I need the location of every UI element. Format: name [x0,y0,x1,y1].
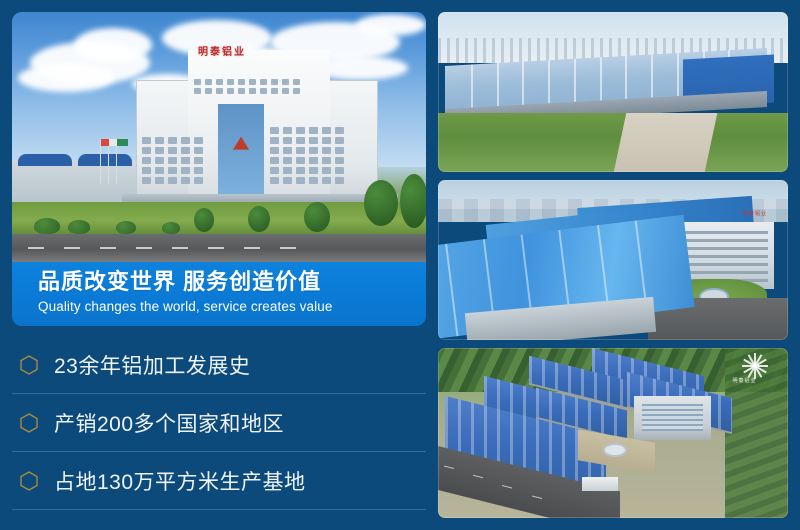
left-column: 明泰铝业 [12,12,426,518]
hexagon-icon [18,354,40,376]
yard-pavement [614,113,718,172]
flag-pole [116,140,117,184]
sun-burst-icon [741,353,767,379]
glass-facade [642,404,704,431]
window-grid [194,79,300,94]
side-workshop [12,160,140,208]
main-office-building [634,396,711,440]
building-sign-text: 明泰铝业 [743,210,767,217]
hexagon-icon [18,412,40,434]
list-item-label: 产销200多个国家和地区 [54,408,284,438]
hexagon-icon [18,470,40,492]
list-item-label: 23余年铝加工发展史 [54,350,250,380]
gallery-photo-industrial-park-render: 明泰铝业 [438,348,788,518]
window-grid [270,127,344,184]
flag [117,139,128,146]
company-logo-icon [233,137,249,150]
workshop-roof [78,154,132,166]
greenery [438,113,788,172]
list-item[interactable]: 产销200多个国家和地区 [12,394,426,452]
list-item-label: 占地130万平方米生产基地 [54,466,306,496]
entrance-gate [582,477,618,491]
tree [248,206,270,232]
tree [364,180,398,226]
company-profile-banner: 明泰铝业 [0,0,800,530]
building-atrium-glass [218,104,264,200]
tree [194,208,214,232]
slogan-chinese: 品质改变世界 服务创造价值 [38,269,426,295]
building-sign-text: 明泰铝业 [198,43,246,58]
slogan-english: Quality changes the world, service creat… [38,297,426,317]
list-item[interactable]: 占地130万平方米生产基地 [12,452,426,510]
bush [116,221,136,234]
road [12,234,426,262]
tree [400,174,426,228]
highlights-list: 23余年铝加工发展史 产销200多个国家和地区 占地130万平方米生产基地 [12,336,426,510]
flag-pole [100,140,101,184]
gallery-photo-blue-roof-plant: 明泰铝业 [438,180,788,340]
gallery-photo-aerial-factory-wide [438,12,788,172]
right-column: 明泰铝业 明泰铝业 [438,12,788,518]
bush [162,222,180,234]
cloud [18,64,114,92]
window-grid [142,137,203,184]
cloud [356,14,426,36]
bush [68,220,90,234]
fountain [603,443,627,457]
tree [304,202,330,232]
cloud [74,28,152,62]
flag-pole [108,140,109,184]
slogan-banner: 品质改变世界 服务创造价值 Quality changes the world,… [12,262,426,326]
hero-photo-headquarters: 明泰铝业 [12,12,426,262]
workshop-roof [18,154,72,166]
bush [34,218,60,234]
list-item[interactable]: 23余年铝加工发展史 [12,336,426,394]
